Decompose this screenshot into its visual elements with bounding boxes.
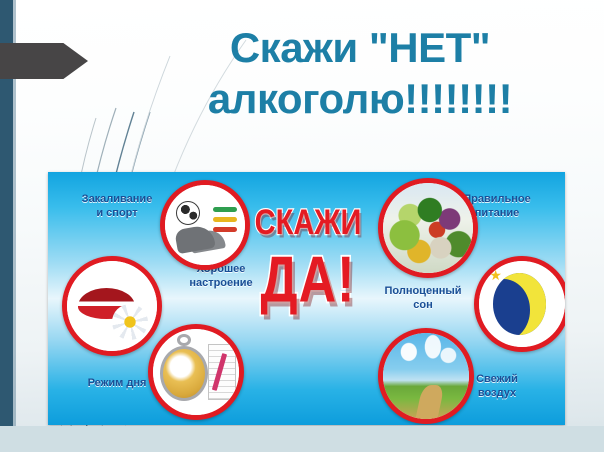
poster-icon-routine[interactable] [148, 324, 244, 420]
presentation-slide: Скажи "НЕТ" алкоголю!!!!!!!! Закаливание… [0, 0, 604, 452]
poster-label-sport: Закаливание и спорт [62, 192, 172, 220]
crescent-moon-star-icon: ★ [479, 261, 565, 347]
poster-shout-text: СКАЖИ ДА! [243, 208, 373, 306]
smiling-lips-daisy-icon [67, 261, 157, 351]
fresh-vegetables-icon [383, 183, 473, 273]
title-line-2: алкоголю!!!!!!!! [150, 73, 570, 124]
poster-label-sleep: Полноценный сон [372, 284, 474, 312]
page-title: Скажи "НЕТ" алкоголю!!!!!!!! [150, 22, 570, 124]
poster-icon-sleep[interactable]: ★ [474, 256, 565, 352]
title-line-1: Скажи "НЕТ" [150, 22, 570, 73]
poster-icon-nutrition[interactable] [378, 178, 478, 278]
poster-icon-fresh-air[interactable] [378, 328, 474, 424]
landscape-sky-path-icon [383, 333, 469, 419]
soccer-ball-sneakers-jumpropes-icon [165, 185, 245, 265]
stopwatch-notepad-pencil-icon [153, 329, 239, 415]
slide-bottom-strip [0, 426, 604, 452]
arrow-banner-shape [0, 43, 88, 79]
shout-line-1: СКАЖИ [243, 205, 373, 242]
shout-line-2: ДА! [243, 248, 373, 313]
poster-icon-mood[interactable] [62, 256, 162, 356]
poster-icon-sport[interactable] [160, 180, 250, 270]
